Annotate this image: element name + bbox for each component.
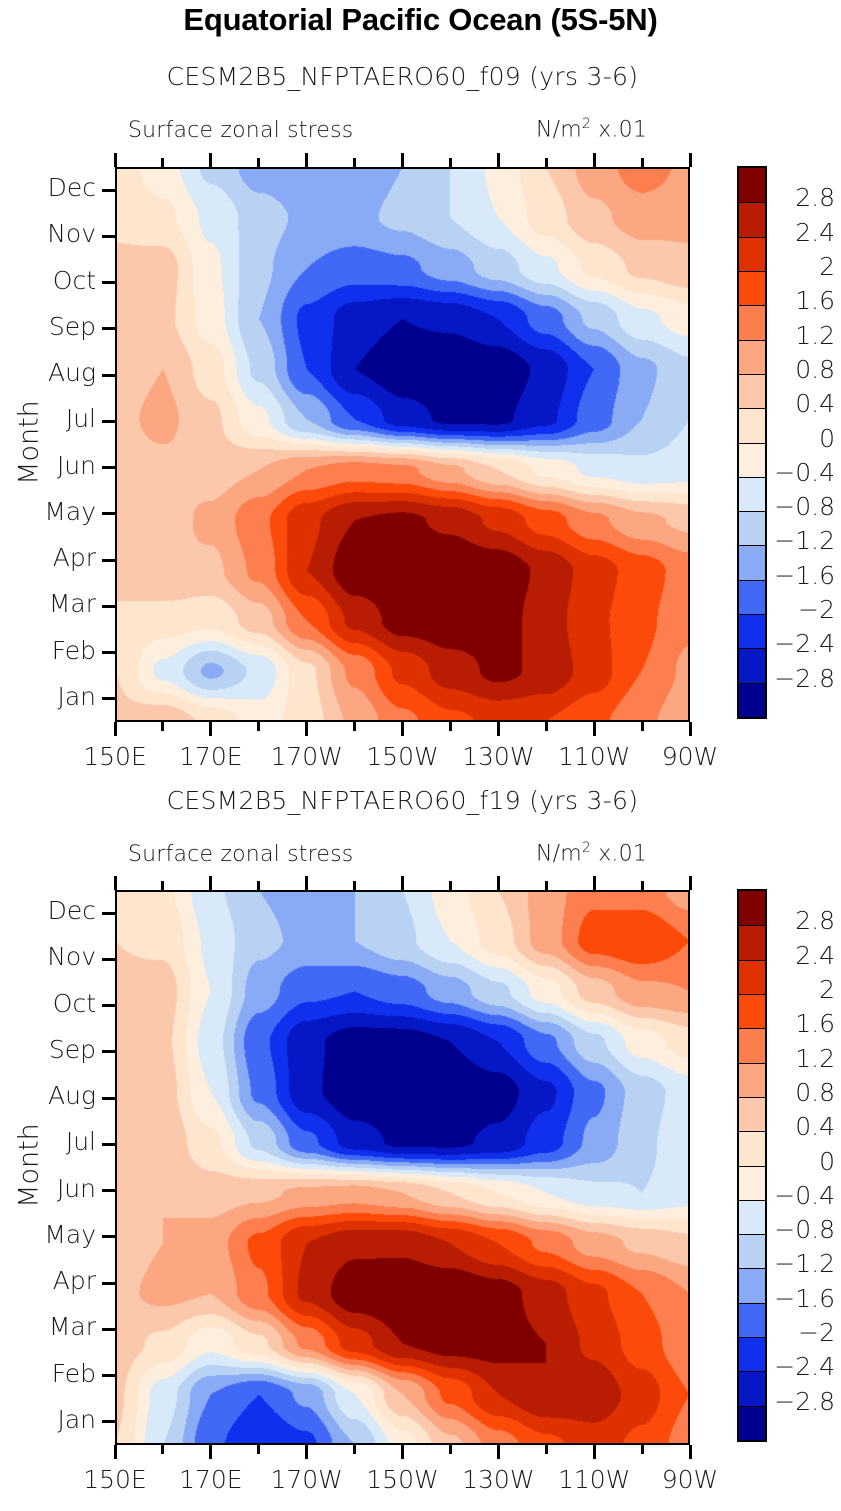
- x-tick-150e: 150E: [60, 1465, 170, 1494]
- x-tick-mark-bottom: [353, 1445, 356, 1454]
- panel-f09: CESM2B5_NFPTAERO60_f09 (yrs 3-6) Surface…: [0, 0, 841, 723]
- colorbar-swatch: [739, 614, 765, 648]
- y-tick-dec: Dec: [0, 173, 96, 202]
- colorbar-label: 1.6: [769, 286, 835, 315]
- y-tick-jan: Jan: [0, 1405, 96, 1434]
- x-tick-130w: 130W: [443, 1465, 553, 1494]
- x-tick-mark-top: [689, 876, 692, 890]
- x-tick-mark-top: [353, 881, 356, 890]
- colorbar-swatch: [739, 477, 765, 511]
- contour-plot-f09[interactable]: [115, 167, 690, 722]
- panel-variable-name: Surface zonal stress: [128, 842, 353, 867]
- colorbar-label: 0: [769, 1147, 835, 1176]
- panel-subtitle: CESM2B5_NFPTAERO60_f09 (yrs 3-6): [115, 62, 690, 91]
- x-tick-mark-top: [689, 153, 692, 167]
- colorbar-label: 1.2: [769, 321, 835, 350]
- y-tick-mark: [102, 512, 117, 515]
- y-tick-jul: Jul: [0, 1127, 96, 1156]
- colorbar-label: −0.4: [769, 1181, 835, 1210]
- colorbar-swatch: [739, 960, 765, 994]
- x-tick-mark-bottom: [401, 1445, 404, 1459]
- y-tick-sep: Sep: [0, 312, 96, 341]
- colorbar-label: −0.4: [769, 458, 835, 487]
- units-tail: x.01: [591, 117, 647, 142]
- x-tick-mark-top: [497, 876, 500, 890]
- colorbar-swatch: [739, 1200, 765, 1234]
- colorbar-f09[interactable]: [737, 166, 767, 719]
- colorbar-swatch: [739, 545, 765, 579]
- x-tick-mark-top: [641, 881, 644, 890]
- colorbar-label: 1.6: [769, 1009, 835, 1038]
- colorbar-label: 2.8: [769, 183, 835, 212]
- y-tick-mark: [102, 327, 117, 330]
- x-tick-mark-top: [257, 881, 260, 890]
- panel-units: N/m2 x.01: [536, 840, 647, 866]
- y-tick-mark: [102, 1420, 117, 1423]
- y-tick-mark: [102, 559, 117, 562]
- y-tick-feb: Feb: [0, 636, 96, 665]
- x-tick-mark-bottom: [641, 1445, 644, 1454]
- y-tick-mar: Mar: [0, 1312, 96, 1341]
- colorbar-swatch: [739, 683, 765, 717]
- y-tick-may: May: [0, 1220, 96, 1249]
- colorbar-label: 0.4: [769, 389, 835, 418]
- x-tick-mark-bottom: [545, 1445, 548, 1454]
- colorbar-label: −2: [769, 1318, 835, 1347]
- colorbar-label: 0.8: [769, 1078, 835, 1107]
- y-tick-mark: [102, 697, 117, 700]
- colorbar-swatch: [739, 168, 765, 202]
- colorbar-swatch: [739, 408, 765, 442]
- colorbar-swatch: [739, 1063, 765, 1097]
- y-tick-mark: [102, 1143, 117, 1146]
- colorbar-label: 2.4: [769, 218, 835, 247]
- x-tick-mark-top: [114, 876, 117, 890]
- units-exponent: 2: [582, 116, 591, 132]
- y-tick-aug: Aug: [0, 358, 96, 387]
- y-tick-jun: Jun: [0, 1174, 96, 1203]
- x-tick-mark-top: [401, 876, 404, 890]
- panel-variable-name: Surface zonal stress: [128, 118, 353, 143]
- y-tick-mark: [102, 912, 117, 915]
- colorbar-swatch: [739, 580, 765, 614]
- colorbar-label: 2: [769, 252, 835, 281]
- units-base: N/m: [536, 841, 582, 866]
- y-tick-mark: [102, 1050, 117, 1053]
- contour-field: [115, 890, 690, 1445]
- x-tick-mark-top: [305, 876, 308, 890]
- x-tick-170e: 170E: [156, 1465, 266, 1494]
- colorbar-label: 1.2: [769, 1044, 835, 1073]
- x-tick-mark-top: [209, 876, 212, 890]
- panel-f19: CESM2B5_NFPTAERO60_f19 (yrs 3-6) Surface…: [0, 723, 841, 1511]
- x-tick-mark-top: [641, 158, 644, 167]
- colorbar-swatch: [739, 305, 765, 339]
- x-tick-mark-top: [161, 158, 164, 167]
- colorbar-label: −2.8: [769, 664, 835, 693]
- colorbar-label: 2: [769, 975, 835, 1004]
- x-tick-mark-bottom: [689, 1445, 692, 1459]
- colorbar-swatch: [739, 1234, 765, 1268]
- y-tick-aug: Aug: [0, 1081, 96, 1110]
- colorbar-swatch: [739, 925, 765, 959]
- x-tick-mark-top: [449, 158, 452, 167]
- y-tick-apr: Apr: [0, 1266, 96, 1295]
- y-tick-mark: [102, 1282, 117, 1285]
- y-tick-oct: Oct: [0, 266, 96, 295]
- y-tick-jun: Jun: [0, 451, 96, 480]
- x-tick-mark-bottom: [161, 1445, 164, 1454]
- y-tick-mark: [102, 189, 117, 192]
- y-tick-may: May: [0, 497, 96, 526]
- y-tick-mark: [102, 1189, 117, 1192]
- colorbar-swatch: [739, 1166, 765, 1200]
- colorbar-swatch: [739, 1303, 765, 1337]
- colorbar-label: −2.4: [769, 629, 835, 658]
- y-tick-mark: [102, 651, 117, 654]
- colorbar-label: −1.6: [769, 1284, 835, 1313]
- x-tick-mark-top: [449, 881, 452, 890]
- colorbar-label: 0.8: [769, 355, 835, 384]
- colorbar-swatch: [739, 1268, 765, 1302]
- x-tick-90w: 90W: [635, 1465, 745, 1494]
- colorbar-swatch: [739, 1131, 765, 1165]
- x-tick-mark-bottom: [449, 1445, 452, 1454]
- x-tick-mark-top: [305, 153, 308, 167]
- colorbar-label: −1.2: [769, 526, 835, 555]
- colorbar-swatch: [739, 271, 765, 305]
- colorbar-swatch: [739, 1097, 765, 1131]
- y-tick-mark: [102, 1328, 117, 1331]
- x-tick-mark-bottom: [497, 1445, 500, 1459]
- colorbar-swatch: [739, 648, 765, 682]
- x-tick-mark-top: [593, 876, 596, 890]
- y-tick-mark: [102, 374, 117, 377]
- x-tick-mark-top: [545, 158, 548, 167]
- colorbar-label: 2.4: [769, 941, 835, 970]
- x-tick-mark-bottom: [593, 1445, 596, 1459]
- y-tick-mark: [102, 235, 117, 238]
- y-tick-mark: [102, 1374, 117, 1377]
- y-tick-mar: Mar: [0, 589, 96, 618]
- colorbar-label: 2.8: [769, 906, 835, 935]
- contour-plot-f19[interactable]: [115, 890, 690, 1445]
- panel-subtitle: CESM2B5_NFPTAERO60_f19 (yrs 3-6): [115, 786, 690, 815]
- y-tick-mark: [102, 1004, 117, 1007]
- colorbar-label: −1.6: [769, 561, 835, 590]
- x-tick-mark-top: [545, 881, 548, 890]
- colorbar-swatch: [739, 1406, 765, 1440]
- contour-field: [115, 167, 690, 722]
- colorbar-swatch: [739, 237, 765, 271]
- x-tick-mark-top: [257, 158, 260, 167]
- y-tick-nov: Nov: [0, 219, 96, 248]
- y-tick-mark: [102, 420, 117, 423]
- units-exponent: 2: [582, 840, 591, 856]
- colorbar-label: 0: [769, 424, 835, 453]
- y-tick-apr: Apr: [0, 543, 96, 572]
- colorbar-swatch: [739, 374, 765, 408]
- colorbar-swatch: [739, 443, 765, 477]
- colorbar-swatch: [739, 511, 765, 545]
- colorbar-swatch: [739, 1028, 765, 1062]
- x-tick-mark-top: [353, 158, 356, 167]
- x-tick-mark-top: [209, 153, 212, 167]
- y-tick-mark: [102, 1097, 117, 1100]
- y-tick-jan: Jan: [0, 682, 96, 711]
- colorbar-label: −0.8: [769, 1215, 835, 1244]
- y-tick-nov: Nov: [0, 942, 96, 971]
- x-tick-mark-top: [593, 153, 596, 167]
- x-tick-mark-top: [401, 153, 404, 167]
- x-tick-mark-top: [114, 153, 117, 167]
- x-tick-mark-bottom: [305, 1445, 308, 1459]
- y-tick-mark: [102, 605, 117, 608]
- x-tick-150w: 150W: [348, 1465, 458, 1494]
- colorbar-swatch: [739, 891, 765, 925]
- x-tick-mark-bottom: [114, 1445, 117, 1459]
- colorbar-label: −2.8: [769, 1387, 835, 1416]
- x-tick-mark-top: [161, 881, 164, 890]
- y-tick-mark: [102, 466, 117, 469]
- x-tick-110w: 110W: [539, 1465, 649, 1494]
- colorbar-swatch: [739, 202, 765, 236]
- colorbar-label: −1.2: [769, 1249, 835, 1278]
- x-tick-mark-bottom: [257, 1445, 260, 1454]
- colorbar-label: 0.4: [769, 1112, 835, 1141]
- y-tick-jul: Jul: [0, 404, 96, 433]
- x-tick-mark-top: [497, 153, 500, 167]
- y-tick-mark: [102, 281, 117, 284]
- y-tick-mark: [102, 958, 117, 961]
- units-base: N/m: [536, 117, 582, 142]
- colorbar-label: −2: [769, 595, 835, 624]
- colorbar-swatch: [739, 1371, 765, 1405]
- x-tick-170w: 170W: [252, 1465, 362, 1494]
- y-tick-sep: Sep: [0, 1035, 96, 1064]
- panel-units: N/m2 x.01: [536, 116, 647, 142]
- colorbar-label: −2.4: [769, 1352, 835, 1381]
- colorbar-label: −0.8: [769, 492, 835, 521]
- y-tick-dec: Dec: [0, 896, 96, 925]
- y-tick-oct: Oct: [0, 989, 96, 1018]
- x-tick-mark-bottom: [209, 1445, 212, 1459]
- colorbar-swatch: [739, 994, 765, 1028]
- y-tick-feb: Feb: [0, 1359, 96, 1388]
- colorbar-swatch: [739, 1337, 765, 1371]
- y-tick-mark: [102, 1235, 117, 1238]
- units-tail: x.01: [591, 841, 647, 866]
- colorbar-swatch: [739, 340, 765, 374]
- colorbar-f19[interactable]: [737, 889, 767, 1442]
